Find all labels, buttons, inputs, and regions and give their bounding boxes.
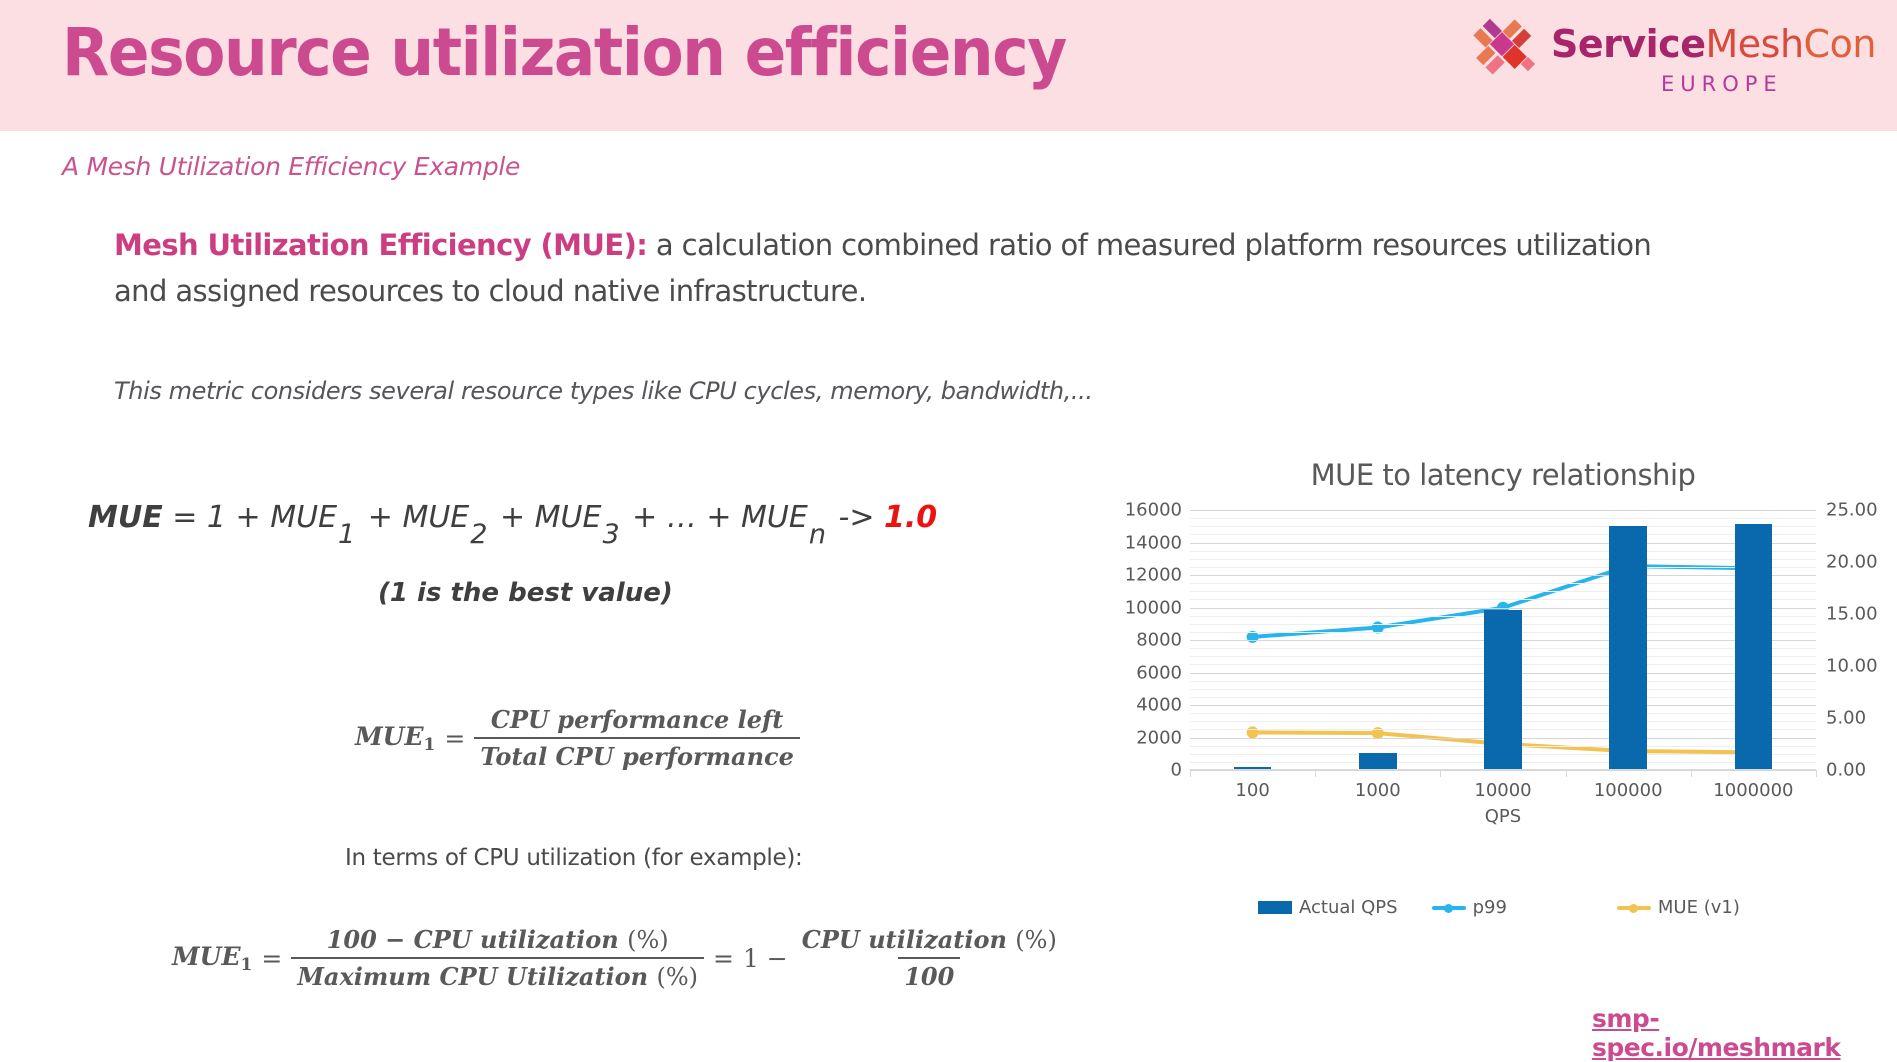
chart-bar (1609, 526, 1647, 769)
chart-bar (1359, 753, 1397, 769)
logo-word-service: Service (1551, 22, 1705, 66)
chart-title: MUE to latency relationship (1118, 458, 1888, 492)
equation-2-denominator-1: Maximum CPU Utilization (%) (291, 957, 704, 991)
chart-gridline (1190, 526, 1816, 527)
legend-swatch (1432, 901, 1466, 914)
x-axis-tick: 100000 (1594, 780, 1663, 801)
servicemeshcon-logo-mark (1463, 14, 1541, 92)
chart-plot-area (1190, 510, 1816, 770)
formula-plus-ellipsis: + … + (623, 500, 741, 535)
x-axis-tick: 1000000 (1713, 780, 1793, 801)
equation-1-fraction: CPU performance left Total CPU performan… (474, 705, 800, 771)
chart-gridline (1190, 608, 1816, 609)
x-axis-tick: 1000 (1355, 780, 1401, 801)
chart-gridline (1190, 599, 1816, 600)
chart-gridline (1190, 559, 1816, 560)
chart-gridline (1190, 543, 1816, 544)
x-axis-tick-mark (1816, 770, 1817, 777)
equation-1-denominator: Total CPU performance (474, 737, 800, 771)
equation-2-numerator-1-text: 100 − CPU utilization (327, 925, 619, 954)
chart-gridline (1190, 510, 1816, 511)
slide-subtitle: A Mesh Utilization Efficiency Example (62, 152, 520, 181)
formula-sub-1: 1 (337, 519, 358, 550)
equation-2-denominator-1-pct: (%) (656, 963, 698, 991)
formula-sub-n: n (808, 519, 829, 550)
formula-equals: = 1 + (163, 500, 271, 535)
equation-2-operator-2: = (704, 944, 743, 973)
chart-legend: Actual QPSp99MUE (v1) (1258, 897, 1740, 918)
formula-plus-2: + (490, 500, 534, 535)
y-axis-right-tick: 20.00 (1826, 552, 1878, 573)
legend-item-p99[interactable]: p99 (1432, 897, 1507, 918)
legend-item-actual-qps[interactable]: Actual QPS (1258, 897, 1398, 918)
equation-2-lhs: MUE1 (172, 942, 252, 975)
x-axis-tick-mark (1566, 770, 1567, 777)
servicemeshcon-logo: ServiceMeshCon EUROPE (1453, 6, 1873, 116)
formula-term-1: MUE (270, 500, 337, 535)
equation-2-numerator-1-pct: (%) (627, 926, 669, 954)
formula-term-n: MUE (741, 500, 808, 535)
equation-1-lhs: MUE1 (355, 722, 435, 755)
legend-swatch (1617, 901, 1651, 914)
y-axis-right-tick: 5.00 (1826, 708, 1866, 729)
equation-1-numerator: CPU performance left (485, 705, 790, 737)
chart-bar (1234, 767, 1272, 769)
logo-word-con: Con (1804, 22, 1876, 66)
formula-sub-2: 2 (469, 519, 490, 550)
chart-x-axis-title: QPS (1190, 806, 1816, 827)
legend-marker (1629, 904, 1638, 913)
formula-term-3: MUE (535, 500, 602, 535)
equation-2-operator-1: = (252, 944, 291, 973)
equation-cpu-performance: MUE1 = CPU performance left Total CPU pe… (355, 705, 800, 771)
metric-note: This metric considers several resource t… (114, 377, 1093, 405)
formula-arrow: -> (829, 500, 884, 535)
equation-2-lhs-sub: 1 (241, 955, 253, 975)
y-axis-right-tick: 15.00 (1826, 604, 1878, 625)
chart-gridline (1190, 770, 1816, 771)
legend-marker (1444, 904, 1453, 913)
equation-2-numerator-1: 100 − CPU utilization (%) (321, 925, 675, 957)
equation-1-operator: = (435, 724, 474, 753)
equation-2-middle: 1 − (743, 944, 796, 973)
chart-gridline (1190, 591, 1816, 592)
y-axis-left-tick: 16000 (1125, 500, 1182, 521)
y-axis-left-tick: 12000 (1125, 565, 1182, 586)
legend-swatch (1258, 901, 1292, 914)
formula-term-2: MUE (402, 500, 469, 535)
y-axis-left-tick: 4000 (1136, 695, 1182, 716)
y-axis-left-tick: 14000 (1125, 532, 1182, 553)
formula-sub-3: 3 (601, 519, 622, 550)
equation-2-numerator-2-text: CPU utilization (802, 925, 1007, 954)
x-axis-tick-mark (1691, 770, 1692, 777)
equation-cpu-utilization: MUE1 = 100 − CPU utilization (%) Maximum… (172, 925, 1063, 991)
mue-latency-chart: MUE to latency relationship 020004000600… (1118, 450, 1888, 950)
x-axis-tick-mark (1440, 770, 1441, 777)
x-axis-tick-mark (1315, 770, 1316, 777)
equation-2-denominator-2: 100 (898, 957, 960, 991)
formula-limit-value: 1.0 (884, 500, 937, 535)
y-axis-left-tick: 6000 (1136, 662, 1182, 683)
equation-2-denominator-1-text: Maximum CPU Utilization (297, 962, 648, 991)
equation-2-numerator-2: CPU utilization (%) (796, 925, 1063, 957)
chart-gridline (1190, 518, 1816, 519)
x-axis-tick-mark (1190, 770, 1191, 777)
y-axis-left-tick: 2000 (1136, 727, 1182, 748)
equation-2-fraction-1: 100 − CPU utilization (%) Maximum CPU Ut… (291, 925, 704, 991)
formula-plus-1: + (358, 500, 402, 535)
cpu-utilization-note: In terms of CPU utilization (for example… (345, 845, 802, 871)
equation-1-lhs-text: MUE (355, 722, 424, 751)
legend-label: Actual QPS (1299, 897, 1398, 918)
y-axis-right-tick: 0.00 (1826, 760, 1866, 781)
page-title: Resource utilization efficiency (62, 14, 1066, 91)
chart-bar (1735, 524, 1773, 769)
equation-1-lhs-sub: 1 (424, 735, 436, 755)
footer-link[interactable]: smp-spec.io/meshmark (1592, 1004, 1897, 1062)
logo-wordmark: ServiceMeshCon (1551, 22, 1876, 66)
chart-plot-wrapper: 0200040006000800010000120001400016000 0.… (1118, 510, 1888, 885)
chart-gridline (1190, 567, 1816, 568)
legend-label: p99 (1473, 897, 1507, 918)
formula-lhs: MUE (88, 500, 163, 535)
y-axis-left-tick: 10000 (1125, 597, 1182, 618)
y-axis-left-tick: 8000 (1136, 630, 1182, 651)
legend-item-mue-v1-[interactable]: MUE (v1) (1617, 897, 1740, 918)
equation-2-lhs-text: MUE (172, 942, 241, 971)
equation-2-fraction-2: CPU utilization (%) 100 (796, 925, 1063, 991)
y-axis-right-tick: 10.00 (1826, 656, 1878, 677)
chart-gridline (1190, 575, 1816, 576)
legend-label: MUE (v1) (1658, 897, 1740, 918)
equation-2-numerator-2-pct: (%) (1015, 926, 1057, 954)
x-axis-tick: 100 (1235, 780, 1269, 801)
mue-definition-term: Mesh Utilization Efficiency (MUE): (114, 228, 647, 262)
mue-definition: Mesh Utilization Efficiency (MUE): a cal… (114, 222, 1654, 314)
best-value-note: (1 is the best value) (378, 578, 673, 608)
chart-bar (1484, 610, 1522, 769)
y-axis-left-tick: 0 (1171, 760, 1182, 781)
logo-word-mesh: Mesh (1705, 22, 1803, 66)
y-axis-right-tick: 25.00 (1826, 500, 1878, 521)
mue-series-formula: MUE = 1 + MUE1 + MUE2 + MUE3 + … + MUEn … (88, 500, 937, 550)
x-axis-tick: 10000 (1474, 780, 1531, 801)
chart-gridline (1190, 583, 1816, 584)
chart-y-axis-left: 0200040006000800010000120001400016000 (1118, 510, 1188, 770)
chart-gridline (1190, 534, 1816, 535)
chart-gridline (1190, 551, 1816, 552)
logo-region-label: EUROPE (1661, 72, 1783, 96)
chart-y-axis-right: 0.005.0010.0015.0020.0025.00 (1818, 510, 1888, 770)
